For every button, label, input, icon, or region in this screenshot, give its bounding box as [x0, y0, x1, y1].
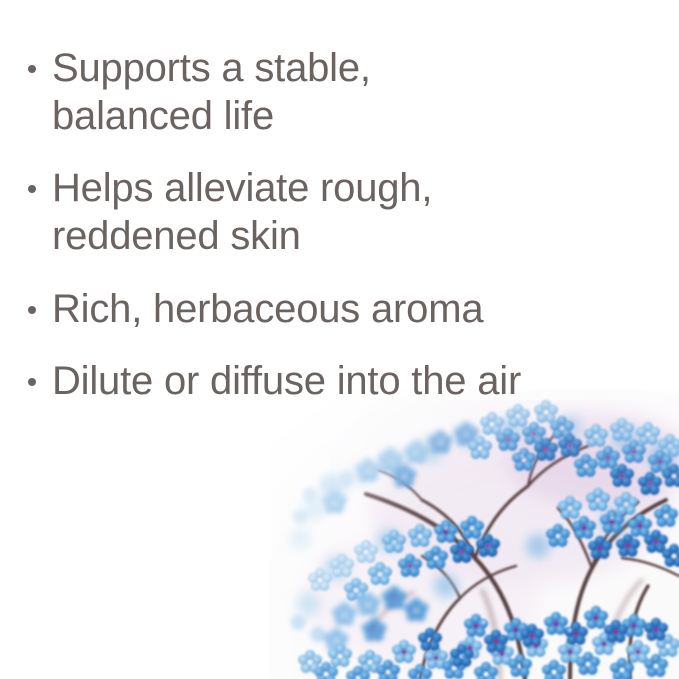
- bullet-point-icon: [28, 65, 36, 73]
- bullet-point-icon: [28, 306, 36, 314]
- benefit-text: Supports a stable, balanced life: [52, 44, 668, 140]
- forget-me-not-flower-photo: [270, 390, 679, 679]
- benefits-card: Supports a stable, balanced life Helps a…: [0, 0, 679, 679]
- benefit-text: Rich, herbaceous aroma: [52, 285, 668, 333]
- bullet-point-icon: [28, 185, 36, 193]
- benefit-item-rough-reddened-skin: Helps alleviate rough, reddened skin: [28, 164, 668, 260]
- benefit-text: Helps alleviate rough, reddened skin: [52, 164, 668, 260]
- benefit-item-dilute-or-diffuse: Dilute or diffuse into the air: [28, 357, 668, 405]
- benefit-text: Dilute or diffuse into the air: [52, 357, 668, 405]
- benefit-item-stable-balanced-life: Supports a stable, balanced life: [28, 44, 668, 140]
- bullet-point-icon: [28, 378, 36, 386]
- benefit-item-herbaceous-aroma: Rich, herbaceous aroma: [28, 285, 668, 333]
